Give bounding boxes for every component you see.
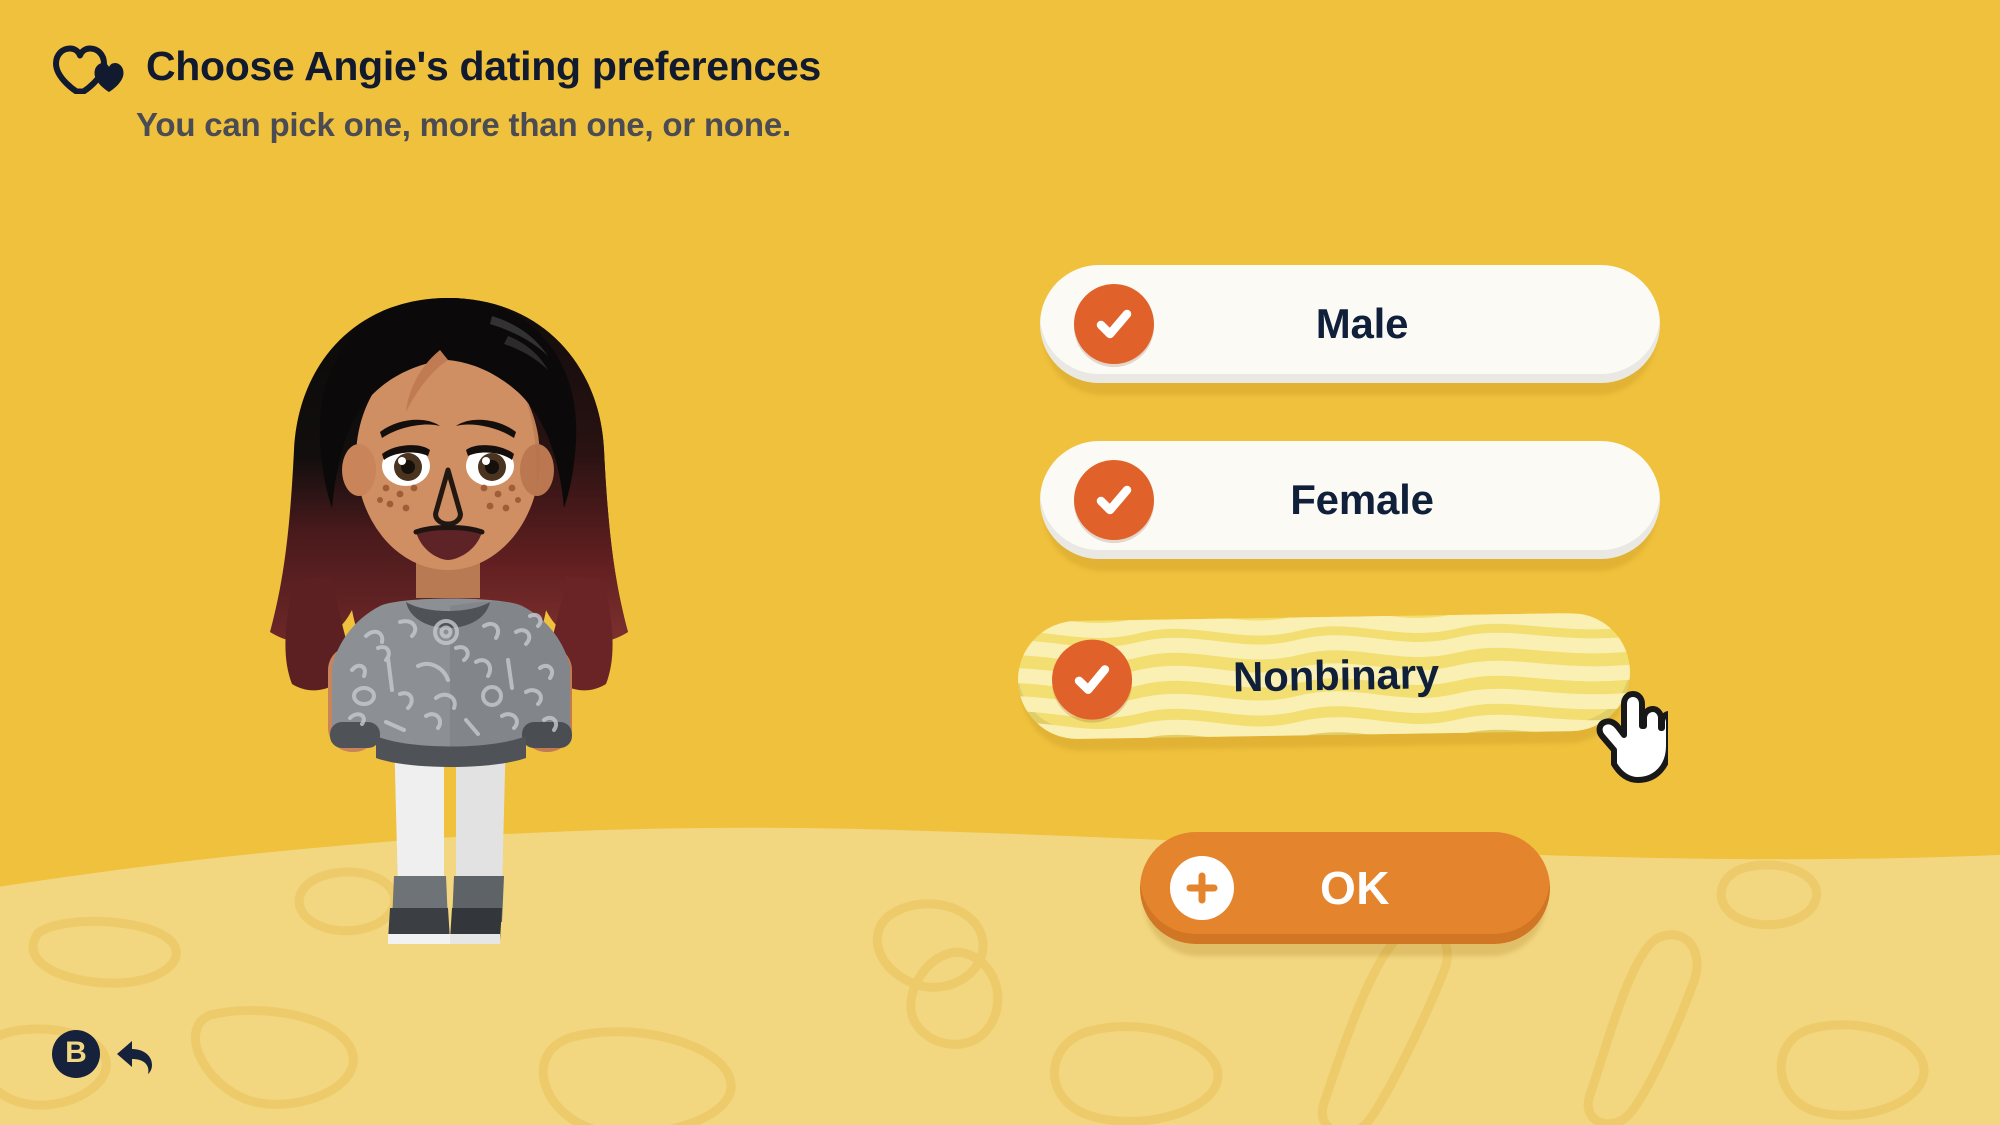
header: Choose Angie's dating preferences You ca… (52, 38, 1152, 144)
game-screen: Choose Angie's dating preferences You ca… (0, 0, 2000, 1125)
two-hearts-icon (52, 38, 128, 94)
option-male[interactable]: Male (1040, 265, 1660, 383)
undo-arrow-icon[interactable] (112, 1031, 158, 1077)
page-title: Choose Angie's dating preferences (146, 46, 821, 87)
option-label: Male (1154, 300, 1570, 348)
option-female[interactable]: Female (1040, 441, 1660, 559)
preference-options: Male Female (1040, 265, 1660, 793)
option-label: Female (1154, 476, 1570, 524)
option-label: Nonbinary (1132, 649, 1541, 703)
checkmark-icon[interactable] (1074, 460, 1154, 540)
checkmark-icon[interactable] (1051, 639, 1132, 720)
b-button-icon[interactable]: B (52, 1030, 100, 1078)
angie-character-avatar (240, 280, 660, 1000)
plus-icon (1170, 856, 1234, 920)
checkmark-icon[interactable] (1074, 284, 1154, 364)
option-nonbinary[interactable]: Nonbinary (1017, 612, 1631, 740)
ok-button-label: OK (1234, 861, 1476, 915)
page-subtitle: You can pick one, more than one, or none… (136, 106, 1152, 144)
b-button-label: B (65, 1038, 87, 1068)
ok-button[interactable]: OK (1140, 832, 1550, 944)
back-control[interactable]: B (52, 1030, 158, 1078)
